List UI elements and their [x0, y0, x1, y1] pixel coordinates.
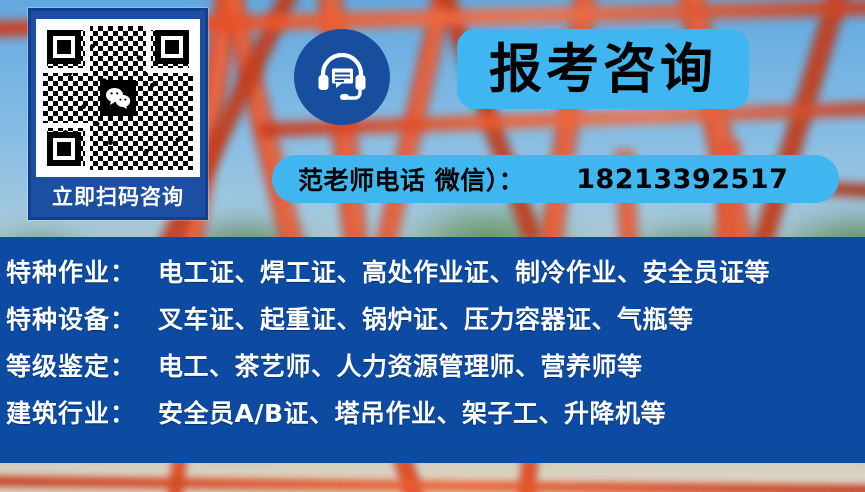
qr-code-matrix: [43, 26, 193, 170]
info-row-value: 叉车证、起重证、锅炉证、压力容器证、气瓶等: [158, 300, 694, 336]
consultation-title-text: 报考咨询: [489, 43, 717, 96]
qr-code-image[interactable]: [36, 19, 200, 177]
consultation-title-pill[interactable]: 报考咨询: [457, 29, 749, 109]
contact-label: 范老师电话 微信）：: [298, 161, 524, 197]
info-row-value: 电工、茶艺师、人力资源管理师、营养师等: [158, 347, 643, 383]
info-row: 特种作业： 电工证、焊工证、高处作业证、制冷作业、安全员证等: [6, 253, 865, 300]
info-row-label: 等级鉴定：: [6, 347, 158, 383]
info-row: 特种设备： 叉车证、起重证、锅炉证、压力容器证、气瓶等: [6, 300, 865, 347]
background-photo-bottom-strip: [0, 463, 865, 492]
qr-code-card[interactable]: 立即扫码咨询: [28, 8, 208, 220]
contact-phone-number: 18213392517: [576, 164, 788, 195]
contact-phone-pill[interactable]: 范老师电话 微信）： 18213392517: [272, 155, 839, 203]
info-row-label: 特种作业：: [6, 253, 158, 289]
advertisement-poster: 立即扫码咨询 报考咨询 范老师电话 微信）： 18213392517 特种作业：…: [0, 0, 865, 492]
info-row-label: 建筑行业：: [6, 394, 158, 430]
qr-card-caption: 立即扫码咨询: [39, 177, 197, 217]
info-row-value: 电工证、焊工证、高处作业证、制冷作业、安全员证等: [158, 253, 770, 289]
info-row: 等级鉴定： 电工、茶艺师、人力资源管理师、营养师等: [6, 347, 865, 394]
info-row-label: 特种设备：: [6, 300, 158, 336]
info-row-value: 安全员A/B证、塔吊作业、架子工、升降机等: [158, 394, 666, 430]
info-row: 建筑行业： 安全员A/B证、塔吊作业、架子工、升降机等: [6, 394, 865, 441]
services-info-band: 特种作业： 电工证、焊工证、高处作业证、制冷作业、安全员证等 特种设备： 叉车证…: [0, 237, 865, 463]
wechat-icon: [100, 80, 136, 116]
headset-support-icon: [294, 29, 390, 125]
